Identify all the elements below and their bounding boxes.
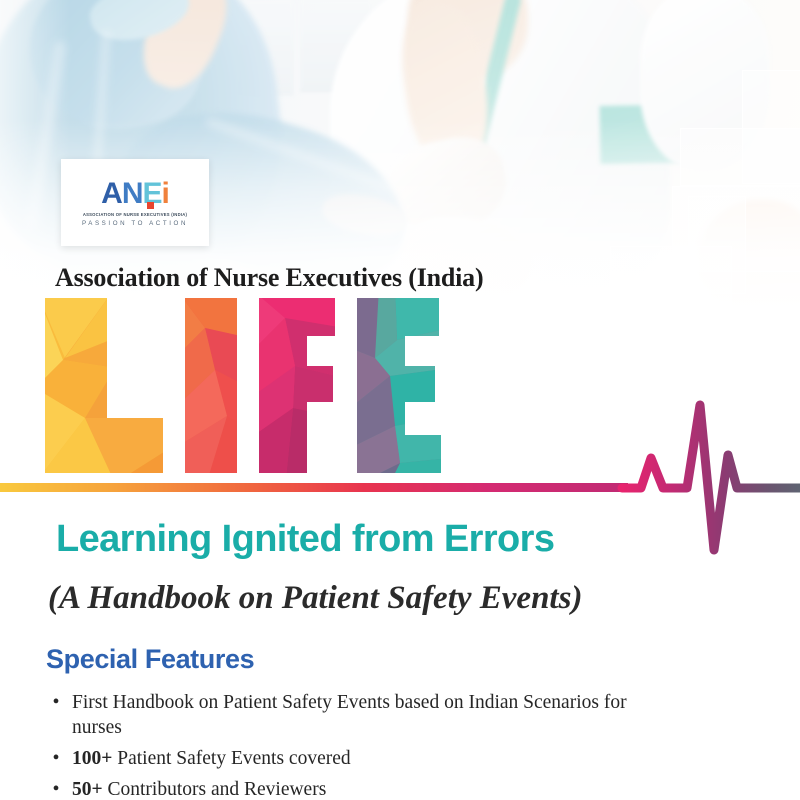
organisation-title: Association of Nurse Executives (India) — [55, 263, 483, 293]
anei-logo-mark: A N E i — [101, 179, 169, 209]
feature-count: 50+ — [72, 779, 103, 800]
list-item: • 100+ Patient Safety Events covered — [40, 746, 660, 771]
logo-letter-a: A — [101, 179, 122, 209]
ecg-trace — [622, 405, 800, 550]
logo-subtitle-small: ASSOCIATION OF NURSE EXECUTIVES (INDIA) — [83, 212, 187, 217]
gradient-rule-bar — [0, 483, 628, 492]
logo-dot-accent — [147, 202, 154, 209]
special-features-heading: Special Features — [46, 644, 254, 675]
list-item: • 50+ Contributors and Reviewers — [40, 777, 660, 800]
anei-logo-card: A N E i ASSOCIATION OF NURSE EXECUTIVES … — [61, 159, 209, 246]
poster-canvas: A N E i ASSOCIATION OF NURSE EXECUTIVES … — [0, 0, 800, 800]
logo-subtitle-large: PASSION TO ACTION — [82, 220, 188, 227]
feature-count: 100+ — [72, 748, 112, 769]
bullet-icon: • — [40, 777, 72, 800]
feature-text: First Handbook on Patient Safety Events … — [72, 690, 660, 740]
tagline-learning-ignited: Learning Ignited from Errors — [56, 518, 554, 561]
logo-letter-n: N — [122, 179, 143, 209]
list-item: • First Handbook on Patient Safety Event… — [40, 690, 660, 740]
bullet-icon: • — [40, 746, 72, 771]
logo-letter-i: i — [162, 179, 169, 209]
handbook-subtitle: (A Handbook on Patient Safety Events) — [48, 580, 582, 617]
special-features-list: • First Handbook on Patient Safety Event… — [40, 690, 660, 800]
bullet-icon: • — [40, 690, 72, 740]
feature-text: 100+ Patient Safety Events covered — [72, 746, 660, 771]
feature-text: 50+ Contributors and Reviewers — [72, 777, 660, 800]
